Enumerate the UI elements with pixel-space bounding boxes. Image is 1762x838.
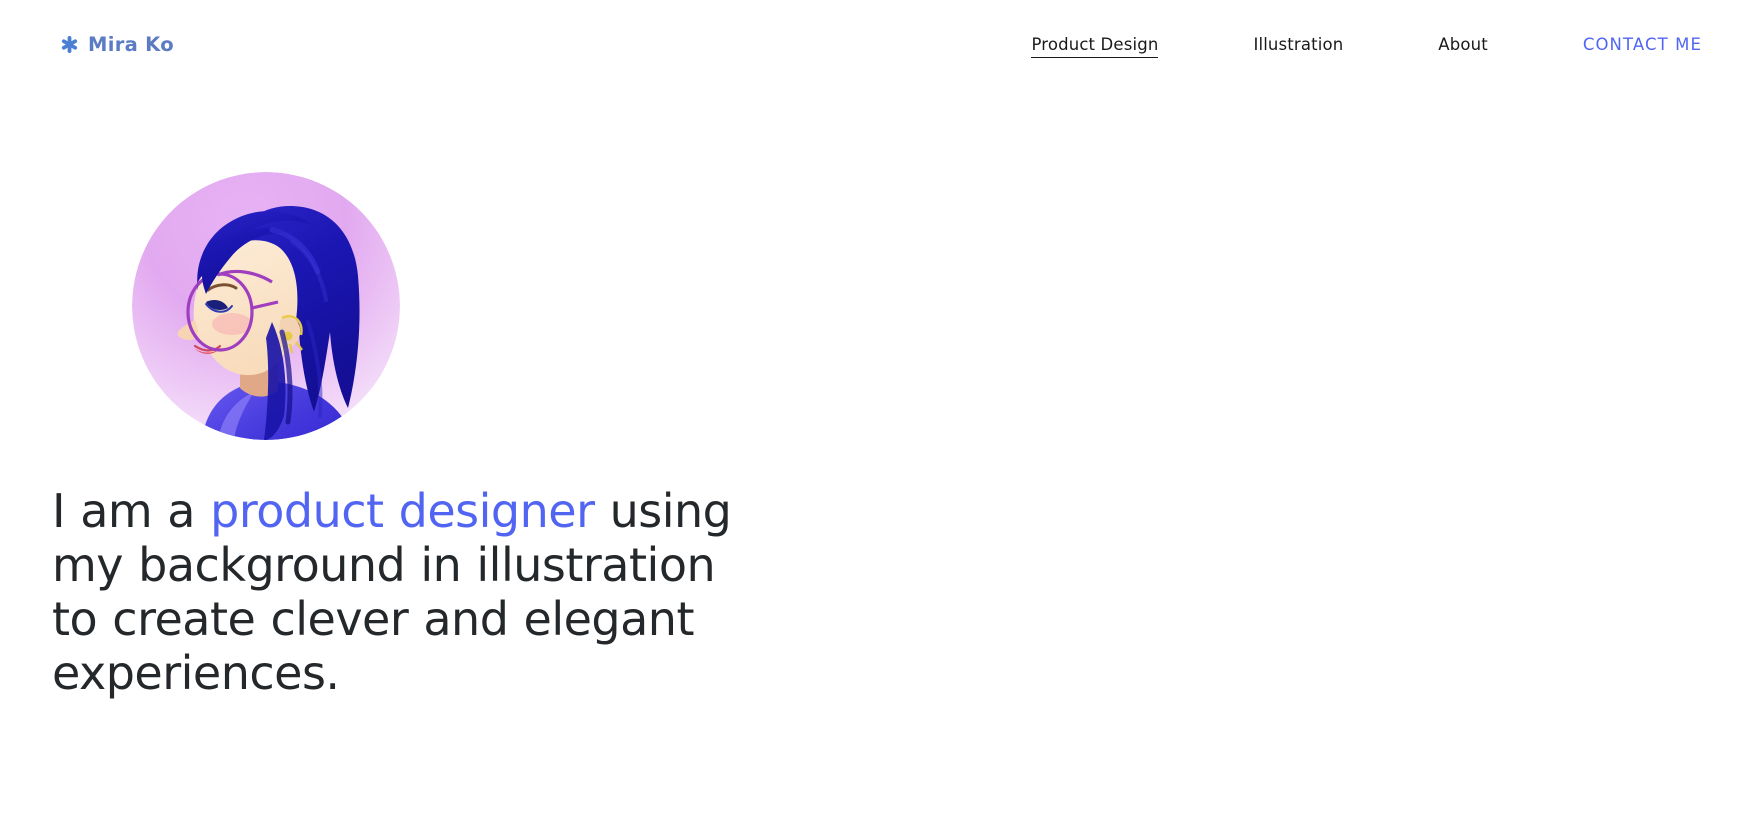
nav-link-product-design[interactable]: Product Design — [1031, 31, 1158, 58]
brand-logo[interactable]: Mira Ko — [60, 33, 174, 56]
nav-item-product-design: Product Design — [1031, 31, 1158, 58]
nav-item-illustration: Illustration — [1253, 31, 1343, 58]
main-navigation: Product Design Illustration About CONTAC… — [1031, 31, 1702, 58]
nav-item-contact: CONTACT ME — [1583, 31, 1702, 58]
hero-line-3: to create clever and elegant — [52, 596, 752, 642]
nav-link-about[interactable]: About — [1438, 31, 1488, 58]
nav-item-about: About — [1438, 31, 1488, 58]
hero-accent-product-designer: product designer — [210, 484, 594, 538]
hero-text-1c: using — [594, 484, 731, 538]
hero-section: I am a product designer using my backgro… — [52, 488, 752, 696]
avatar-illustration — [132, 172, 400, 440]
asterisk-flower-icon — [60, 35, 79, 54]
hero-line-4: experiences. — [52, 650, 752, 696]
hero-text-1a: I am a — [52, 484, 210, 538]
portfolio-page: Mira Ko Product Design Illustration Abou… — [0, 0, 1762, 838]
nav-link-illustration[interactable]: Illustration — [1253, 31, 1343, 58]
page-title: I am a product designer using my backgro… — [52, 488, 752, 696]
site-header: Mira Ko Product Design Illustration Abou… — [0, 0, 1762, 88]
brand-name: Mira Ko — [88, 33, 174, 56]
avatar — [132, 172, 400, 440]
contact-me-button[interactable]: CONTACT ME — [1583, 31, 1702, 58]
hero-line-1: I am a product designer using — [52, 488, 752, 534]
hero-line-2: my background in illustration — [52, 542, 752, 588]
